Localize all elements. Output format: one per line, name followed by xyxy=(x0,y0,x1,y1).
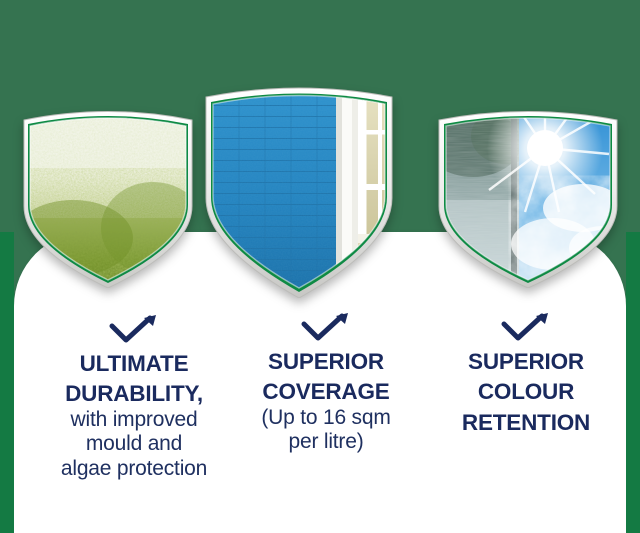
check-arrow-icon xyxy=(228,310,424,344)
headline-line-3: RETENTION xyxy=(428,411,624,435)
feature-column-durability: ULTIMATE DURABILITY, with improved mould… xyxy=(26,312,242,480)
feature-column-colour-retention: SUPERIOR COLOUR RETENTION xyxy=(428,310,624,435)
shield-blue-brick-window xyxy=(200,84,398,298)
headline-line-1: SUPERIOR xyxy=(228,350,424,374)
right-green-edge-strip xyxy=(626,232,640,533)
check-arrow-icon xyxy=(428,310,624,344)
subline-1: (Up to 16 sqm xyxy=(228,406,424,430)
headline-line-2: COVERAGE xyxy=(228,380,424,404)
subline-2: mould and xyxy=(26,432,242,456)
subline-1: with improved xyxy=(26,408,242,432)
subline-3: algae protection xyxy=(26,457,242,481)
headline-line-2: COLOUR xyxy=(428,380,624,404)
headline-line-2: DURABILITY, xyxy=(26,382,242,406)
left-green-edge-strip xyxy=(0,232,14,533)
subline-2: per litre) xyxy=(228,430,424,454)
feature-column-coverage: SUPERIOR COVERAGE (Up to 16 sqm per litr… xyxy=(228,310,424,454)
shield-rain-and-sun xyxy=(433,108,623,288)
shield-mould-algae xyxy=(18,108,198,288)
headline-line-1: ULTIMATE xyxy=(26,352,242,376)
promo-banner: ULTIMATE DURABILITY, with improved mould… xyxy=(0,0,640,533)
headline-line-1: SUPERIOR xyxy=(428,350,624,374)
check-arrow-icon xyxy=(26,312,242,346)
